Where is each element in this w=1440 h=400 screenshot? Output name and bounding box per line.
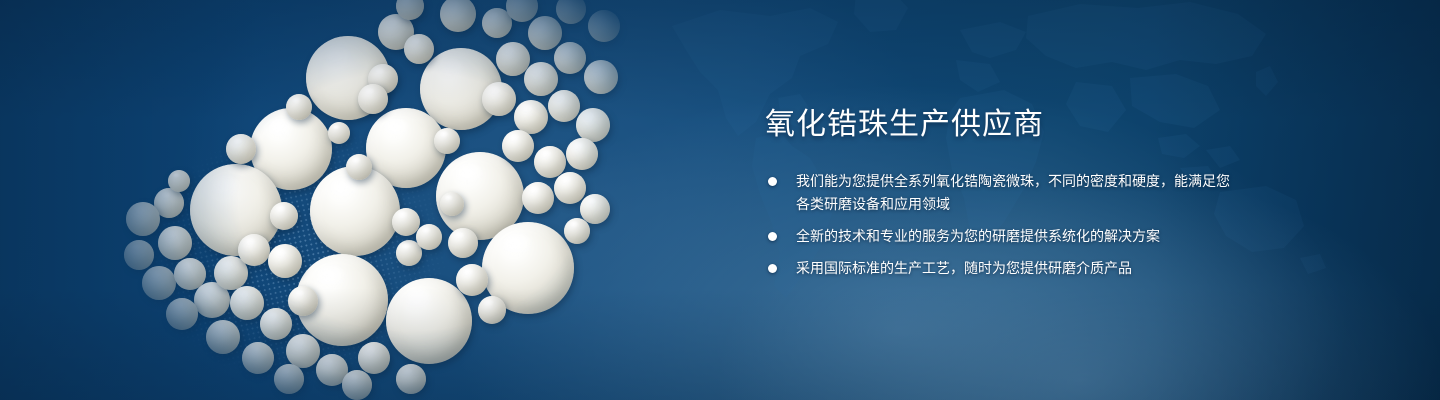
bead <box>554 42 586 74</box>
bullet-dot-icon <box>768 177 777 186</box>
bead <box>566 138 598 170</box>
bead <box>238 234 270 266</box>
bullet-dot-icon <box>768 232 777 241</box>
bead <box>260 308 292 340</box>
bead <box>142 266 176 300</box>
list-item-label: 全新的技术和专业的服务为您的研磨提供系统化的解决方案 <box>796 228 1160 244</box>
bead <box>286 334 320 368</box>
bead <box>206 320 240 354</box>
bead <box>288 286 318 316</box>
bead <box>274 364 304 394</box>
bead <box>576 108 610 142</box>
bead <box>522 182 554 214</box>
list-item: 我们能为您提供全系列氧化锆陶瓷微珠，不同的密度和硬度，能满足您各类研磨设备和应用… <box>766 170 1236 216</box>
page-title: 氧化锆珠生产供应商 <box>765 108 1044 143</box>
hero-banner: 氧化锆珠生产供应商 我们能为您提供全系列氧化锆陶瓷微珠，不同的密度和硬度，能满足… <box>0 0 1440 400</box>
bead <box>328 122 350 144</box>
bead <box>342 370 372 400</box>
bead <box>564 218 590 244</box>
bead <box>554 172 586 204</box>
bead <box>166 298 198 330</box>
bead <box>346 154 372 180</box>
feature-list: 我们能为您提供全系列氧化锆陶瓷微珠，不同的密度和硬度，能满足您各类研磨设备和应用… <box>766 170 1236 280</box>
bead <box>556 0 586 24</box>
bead <box>434 128 460 154</box>
bead <box>358 342 390 374</box>
bead <box>524 62 558 96</box>
product-image-zirconia-beads <box>110 0 750 400</box>
bead <box>124 240 154 270</box>
bead <box>548 90 580 122</box>
list-item: 采用国际标准的生产工艺，随时为您提供研磨介质产品 <box>766 257 1236 280</box>
bead <box>268 244 302 278</box>
bead <box>286 94 312 120</box>
bead <box>448 228 478 258</box>
bullet-dot-icon <box>768 264 777 273</box>
bead <box>396 364 426 394</box>
bead <box>270 202 298 230</box>
bead <box>588 10 620 42</box>
bead <box>514 100 548 134</box>
bead <box>386 278 472 364</box>
bead <box>482 82 516 116</box>
bead <box>502 130 534 162</box>
list-item-label: 采用国际标准的生产工艺，随时为您提供研磨介质产品 <box>796 260 1132 276</box>
bead <box>226 134 256 164</box>
list-item-label: 我们能为您提供全系列氧化锆陶瓷微珠，不同的密度和硬度，能满足您各类研磨设备和应用… <box>796 173 1230 212</box>
bead <box>242 342 274 374</box>
bead <box>478 296 506 324</box>
bead <box>416 224 442 250</box>
bead <box>456 264 488 296</box>
bead <box>168 170 190 192</box>
banner-content: 氧化锆珠生产供应商 我们能为您提供全系列氧化锆陶瓷微珠，不同的密度和硬度，能满足… <box>763 0 1283 400</box>
bead <box>440 0 476 32</box>
bead <box>584 60 618 94</box>
bead <box>158 226 192 260</box>
bead <box>404 34 434 64</box>
bead <box>126 202 160 236</box>
bead <box>230 286 264 320</box>
bead <box>440 192 464 216</box>
list-item: 全新的技术和专业的服务为您的研磨提供系统化的解决方案 <box>766 225 1236 248</box>
bead <box>528 16 562 50</box>
bead <box>358 84 388 114</box>
